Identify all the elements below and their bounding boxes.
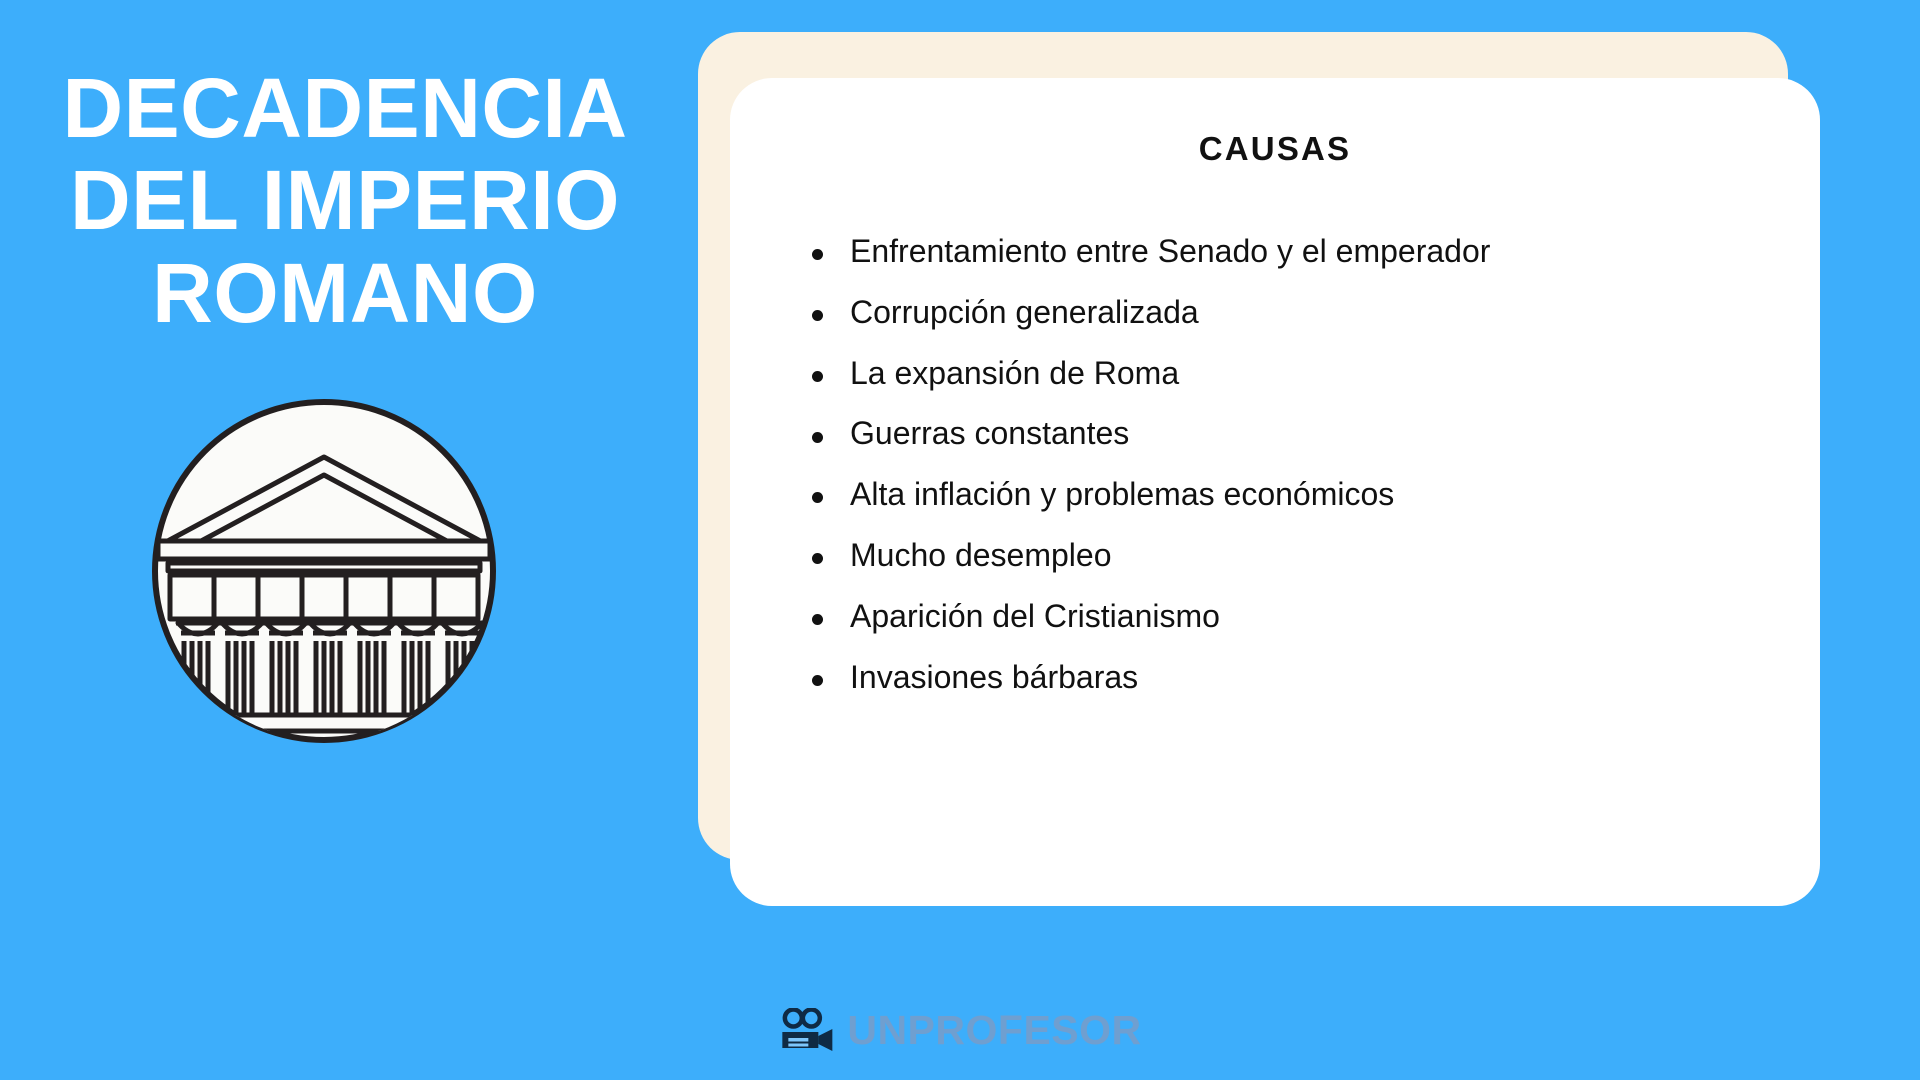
title-line-3: ROMANO bbox=[40, 247, 650, 339]
bullet-icon bbox=[812, 432, 823, 443]
list-item-label: Aparición del Cristianismo bbox=[850, 598, 1220, 634]
list-item: La expansión de Roma bbox=[806, 348, 1736, 400]
bullet-icon bbox=[812, 371, 823, 382]
bullet-icon bbox=[812, 553, 823, 564]
list-item-label: Invasiones bárbaras bbox=[850, 659, 1138, 695]
list-item: Alta inflación y problemas económicos bbox=[806, 469, 1736, 521]
list-item: Aparición del Cristianismo bbox=[806, 591, 1736, 643]
causes-list: Enfrentamiento entre Senado y el emperad… bbox=[792, 226, 1758, 704]
movie-camera-icon bbox=[778, 1008, 834, 1052]
list-item: Invasiones bárbaras bbox=[806, 652, 1736, 704]
causes-heading: CAUSAS bbox=[792, 130, 1758, 168]
causes-panel: CAUSAS Enfrentamiento entre Senado y el … bbox=[698, 32, 1788, 860]
list-item-label: Guerras constantes bbox=[850, 415, 1129, 451]
title-line-1: DECADENCIA bbox=[40, 62, 650, 154]
list-item-label: Corrupción generalizada bbox=[850, 294, 1199, 330]
left-panel: DECADENCIA DEL IMPERIO ROMANO bbox=[0, 0, 690, 1010]
list-item-label: Alta inflación y problemas económicos bbox=[850, 476, 1394, 512]
list-item-label: Enfrentamiento entre Senado y el emperad… bbox=[850, 233, 1490, 269]
list-item-label: La expansión de Roma bbox=[850, 355, 1179, 391]
bullet-icon bbox=[812, 492, 823, 503]
causes-card: CAUSAS Enfrentamiento entre Senado y el … bbox=[730, 78, 1820, 906]
bullet-icon bbox=[812, 614, 823, 625]
page-title: DECADENCIA DEL IMPERIO ROMANO bbox=[0, 62, 690, 339]
list-item-label: Mucho desempleo bbox=[850, 537, 1111, 573]
bullet-icon bbox=[812, 249, 823, 260]
brand-wordmark: UNPROFESOR bbox=[847, 1010, 1141, 1051]
bullet-icon bbox=[812, 310, 823, 321]
bullet-icon bbox=[812, 675, 823, 686]
list-item: Corrupción generalizada bbox=[806, 287, 1736, 339]
list-item: Guerras constantes bbox=[806, 408, 1736, 460]
list-item: Enfrentamiento entre Senado y el emperad… bbox=[806, 226, 1736, 278]
title-line-2: DEL IMPERIO bbox=[40, 154, 650, 246]
roman-temple-icon bbox=[148, 395, 500, 747]
brand-logo: UNPROFESOR bbox=[778, 1008, 1141, 1052]
list-item: Mucho desempleo bbox=[806, 530, 1736, 582]
